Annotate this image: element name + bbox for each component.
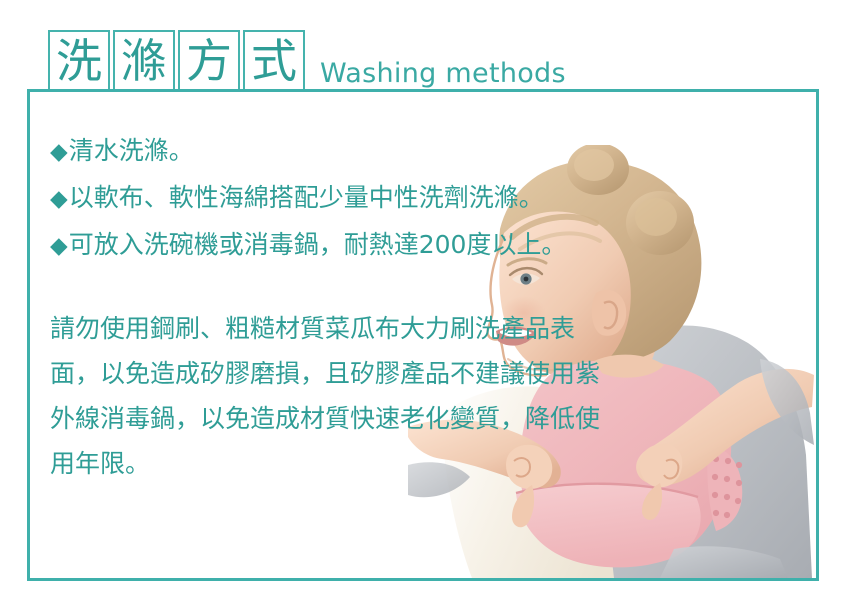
bullet-item-3: ◆ 可放入洗碗機或消毒鍋，耐熱達200度以上。 [50,222,650,269]
bullet-item-2-text: 以軟布、軟性海綿搭配少量中性洗劑洗滌。 [69,175,544,221]
bullet-item-3-text: 可放入洗碗機或消毒鍋，耐熱達200度以上。 [69,222,567,268]
title-char-box-3: 方 [178,30,240,92]
washing-methods-infographic: 洗 滌 方 式 Washing methods [0,0,851,613]
page-title-english: Washing methods [320,60,566,92]
caution-paragraph: 請勿使用鋼刷、粗糙材質菜瓜布大力刷洗產品表面，以免造成矽膠磨損，且矽膠產品不建議… [50,306,620,486]
bullet-item-1: ◆ 清水洗滌。 [50,128,650,175]
instructions-block: ◆ 清水洗滌。 ◆ 以軟布、軟性海綿搭配少量中性洗劑洗滌。 ◆ 可放入洗碗機或消… [50,128,650,486]
bullet-item-1-text: 清水洗滌。 [69,128,194,174]
title-char-box-4: 式 [243,30,305,92]
title-char-box-2: 滌 [113,30,175,92]
page-title: 洗 滌 方 式 Washing methods [48,28,566,92]
diamond-bullet-icon: ◆ [50,223,68,269]
diamond-bullet-icon: ◆ [50,129,68,175]
bullet-item-2: ◆ 以軟布、軟性海綿搭配少量中性洗劑洗滌。 [50,175,650,222]
diamond-bullet-icon: ◆ [50,176,68,222]
title-char-box-1: 洗 [48,30,110,92]
